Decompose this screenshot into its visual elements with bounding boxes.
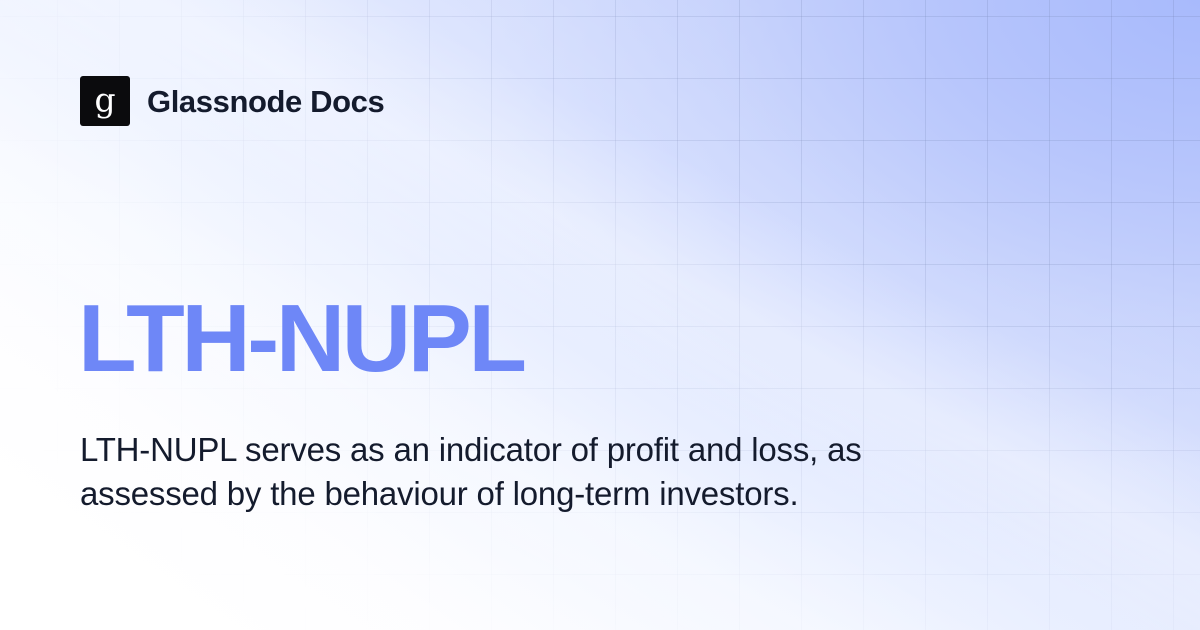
card-content: g Glassnode Docs LTH-NUPL LTH-NUPL serve…	[0, 0, 1200, 630]
og-card: g Glassnode Docs LTH-NUPL LTH-NUPL serve…	[0, 0, 1200, 630]
brand-lockup[interactable]: g Glassnode Docs	[80, 76, 384, 126]
page-description: LTH-NUPL serves as an indicator of profi…	[80, 428, 870, 516]
brand-name-label: Glassnode Docs	[147, 86, 384, 117]
svg-text:g: g	[94, 82, 115, 119]
glassnode-g-logo-icon: g	[80, 76, 130, 126]
page-title: LTH-NUPL	[78, 291, 524, 387]
